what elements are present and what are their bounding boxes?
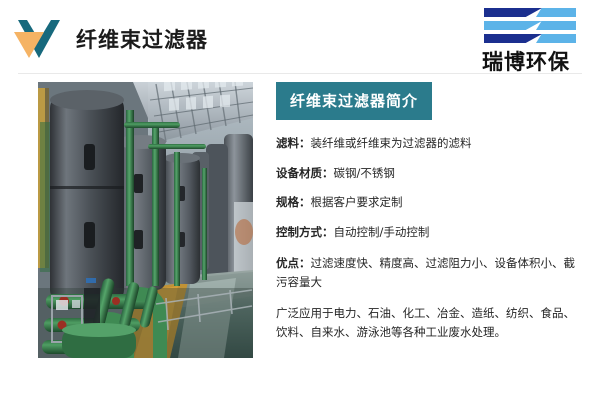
logo-bar-bottom [484,34,576,43]
advantages-value: 过滤速度快、精度高、过滤阻力小、设备体积小、截污容量大 [276,256,575,289]
logo-bar-bottom-dark-segment [484,34,542,43]
logo-bar-top-light-segment [536,8,576,17]
intro-panel: 纤维束过滤器简介 滤料：装纤维或纤维束为过滤器的滤料 设备材质：碳钢/不锈钢 规… [276,82,588,372]
spec-key-specification: 规格： [276,195,311,209]
advantages-key: 优点： [276,256,311,270]
logo-bar-top [484,8,576,17]
spec-row-specification: 规格：根据客户要求定制 [276,195,588,211]
logo-bar-bottom-light-segment [536,34,576,43]
spec-key-material: 设备材质： [276,166,334,180]
spec-value-specification: 根据客户要求定制 [311,195,403,209]
ribo-e-bars-icon [484,8,576,44]
logo-bar-middle-light-segment [484,21,542,30]
spec-value-filter-media: 装纤维或纤维束为过滤器的滤料 [311,136,472,150]
spec-key-filter-media: 滤料： [276,136,311,150]
spec-list: 滤料：装纤维或纤维束为过滤器的滤料 设备材质：碳钢/不锈钢 规格：根据客户要求定… [276,136,588,240]
spec-key-control-mode: 控制方式： [276,225,334,239]
triangle-logo-orange-shape [14,32,44,58]
triangle-logo-icon [14,20,60,58]
company-logo: 瑞博环保 [462,8,590,72]
fiber-bundle-filter-plant-photo [38,82,253,358]
page-title: 纤维束过滤器 [76,24,208,54]
advantages-paragraph: 优点：过滤速度快、精度高、过滤阻力小、设备体积小、截污容量大 [276,254,576,292]
spec-row-control-mode: 控制方式：自动控制/手动控制 [276,225,588,241]
applications-paragraph: 广泛应用于电力、石油、化工、冶金、造纸、纺织、食品、饮料、自来水、游泳池等各种工… [276,304,576,342]
header-divider [18,73,582,74]
spec-row-material: 设备材质：碳钢/不锈钢 [276,166,588,182]
spec-value-material: 碳钢/不锈钢 [334,166,395,180]
spec-value-control-mode: 自动控制/手动控制 [334,225,430,239]
page-header: 纤维束过滤器 瑞博环保 [0,0,600,74]
logo-bar-top-dark-segment [484,8,542,17]
section-banner: 纤维束过滤器简介 [276,82,432,120]
logo-bar-middle [484,21,576,30]
spec-row-filter-media: 滤料：装纤维或纤维束为过滤器的滤料 [276,136,588,152]
logo-bar-middle-tail-segment [536,21,576,30]
company-name: 瑞博环保 [462,46,590,76]
